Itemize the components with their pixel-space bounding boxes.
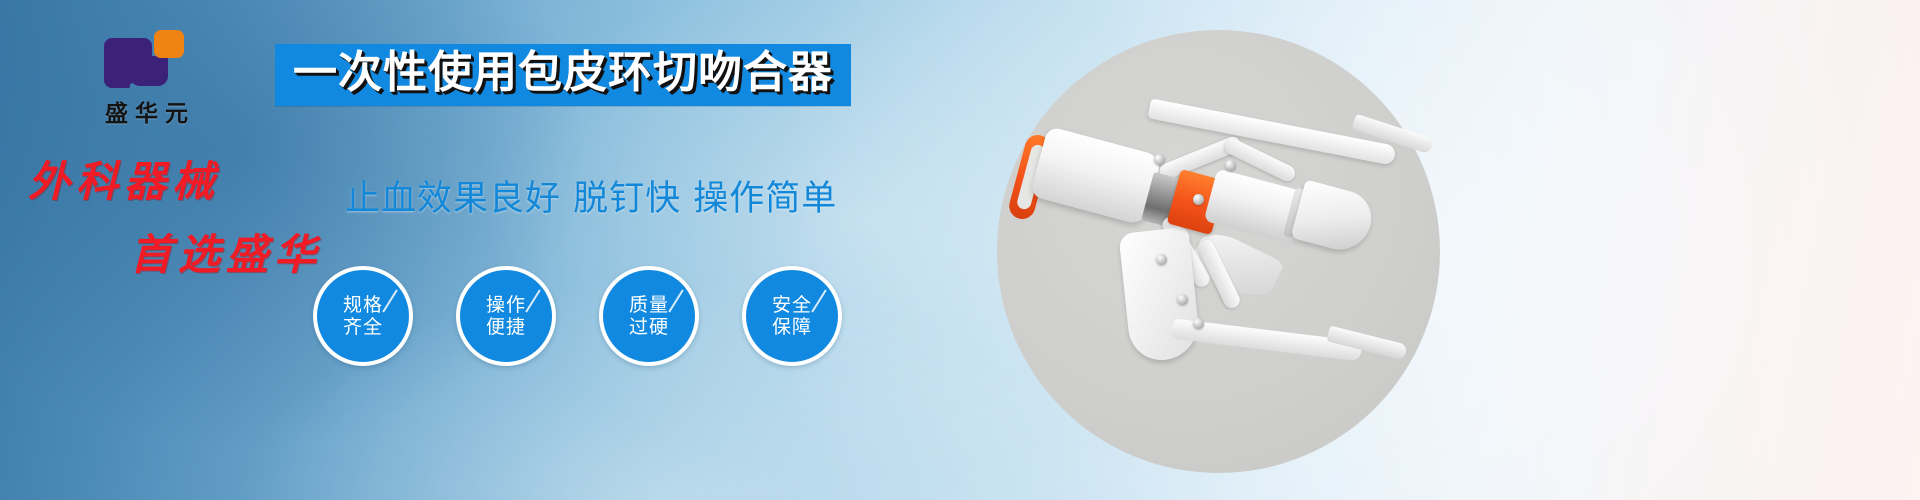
feature-label-line2: 便捷 (486, 316, 526, 338)
product-pivot-rivet (1154, 154, 1165, 165)
feature-label-line1: 质量 (629, 294, 669, 316)
feature-label-line2: 齐全 (343, 316, 383, 338)
product-pivot-rivet (1156, 254, 1167, 265)
slash-decor-icon (382, 289, 397, 312)
feature-label-line1: 操作 (486, 294, 526, 316)
brand-name: 盛华元 (60, 94, 240, 128)
feature-circle-3[interactable]: 质量 过硬 (599, 266, 699, 366)
page-title: 一次性使用包皮环切吻合器 (293, 50, 833, 96)
product-pivot-rivet (1193, 194, 1204, 205)
feature-circle-1[interactable]: 规格 齐全 (313, 266, 413, 366)
feature-circle-list: 规格 齐全 操作 便捷 质量 过硬 安全 保障 (313, 266, 842, 366)
brand-blocks-icon (104, 26, 196, 88)
slash-decor-icon (525, 289, 540, 312)
feature-label-line1: 安全 (772, 294, 812, 316)
slash-decor-icon (811, 289, 826, 312)
calligraphy-slogan: 外科器械 首选盛华 (20, 148, 340, 263)
calligraphy-line-1: 外科器械 (28, 148, 340, 209)
feature-label-line2: 保障 (772, 316, 812, 338)
feature-label-line2: 过硬 (629, 316, 669, 338)
calligraphy-line-2: 首选盛华 (130, 221, 340, 282)
feature-circle-2[interactable]: 操作 便捷 (456, 266, 556, 366)
brand-logo[interactable]: 盛华元 (60, 26, 240, 136)
subtitle-text: 止血效果良好 脱钉快 操作简单 (345, 170, 837, 221)
product-pivot-rivet (1225, 160, 1236, 171)
slash-decor-icon (668, 289, 683, 312)
feature-circle-4[interactable]: 安全 保障 (742, 266, 842, 366)
promo-banner: 盛华元 一次性使用包皮环切吻合器 外科器械 首选盛华 止血效果良好 脱钉快 操作… (0, 0, 1920, 500)
headline-bar: 一次性使用包皮环切吻合器 (275, 44, 851, 106)
feature-label-line1: 规格 (343, 294, 383, 316)
product-image (997, 30, 1440, 473)
product-pivot-rivet (1177, 294, 1188, 305)
product-pivot-rivet (1193, 318, 1204, 329)
